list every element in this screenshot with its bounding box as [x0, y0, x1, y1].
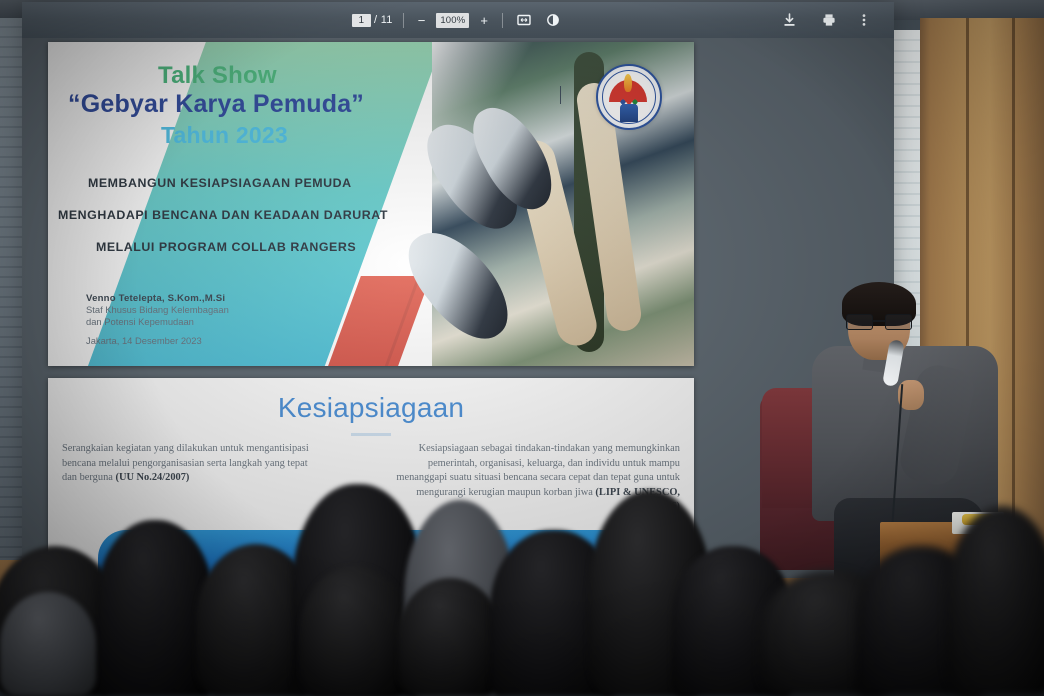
slide-title-line-3: Tahun 2023 — [161, 122, 288, 149]
glasses-icon — [846, 314, 912, 328]
print-icon[interactable] — [818, 11, 840, 29]
speaker-role-line-1: Staf Khusus Bidang Kelembagaan — [86, 304, 229, 316]
slide-speaker-name: Venno Tetelepta, S.Kom.,M.Si — [86, 293, 225, 304]
emblem-body — [620, 104, 638, 122]
audience-foreground — [0, 430, 1044, 696]
toolbar-right-controls — [779, 2, 870, 38]
slide-subtitle-line-1: MEMBANGUN KESIAPSIAGAAN PEMUDA — [88, 176, 352, 190]
pdf-viewer-toolbar[interactable]: 1 / 11 − 100% + — [22, 2, 894, 38]
slide-speaker-role: Staf Khusus Bidang Kelembagaan dan Poten… — [86, 304, 229, 327]
slide-page-1: Talk Show “Gebyar Karya Pemuda” Tahun 20… — [48, 42, 694, 366]
more-options-icon[interactable] — [858, 11, 870, 29]
screenshot-root: 1 / 11 − 100% + — [0, 0, 1044, 696]
audience-head — [946, 506, 1044, 696]
text-cursor-artifact — [560, 86, 561, 104]
toolbar-divider — [403, 13, 404, 28]
page-indicator: 1 / 11 — [352, 14, 393, 27]
slide-1-text-block: Talk Show “Gebyar Karya Pemuda” Tahun 20… — [48, 42, 448, 366]
slide-subtitle-line-2: MENGHADAPI BENCANA DAN KEADAAN DARURAT — [58, 208, 388, 222]
glasses-left-lens — [846, 314, 873, 330]
slide-2-title: Kesiapsiagaan — [48, 392, 694, 424]
zoom-level-value[interactable]: 100% — [436, 13, 469, 28]
toolbar-center-controls: 1 / 11 − 100% + — [352, 2, 564, 38]
fit-page-icon[interactable] — [513, 12, 535, 28]
zoom-in-button[interactable]: + — [476, 12, 492, 29]
rotate-icon[interactable] — [542, 11, 564, 29]
kemenpora-emblem-icon — [596, 64, 662, 130]
current-page-input[interactable]: 1 — [352, 14, 371, 27]
speaker-role-line-2: dan Potensi Kepemudaan — [86, 316, 229, 328]
toolbar-divider — [502, 13, 503, 28]
audience-head — [300, 566, 410, 696]
zoom-out-button[interactable]: − — [414, 12, 430, 29]
slide-title-line-2: “Gebyar Karya Pemuda” — [68, 90, 364, 119]
slide-place-date: Jakarta, 14 Desember 2023 — [86, 335, 202, 346]
glasses-right-lens — [885, 314, 912, 330]
download-icon[interactable] — [779, 11, 800, 29]
glasses-bridge — [872, 320, 886, 322]
slide-title-line-1: Talk Show — [158, 62, 277, 90]
audience-head — [398, 578, 502, 696]
emblem-flame — [624, 74, 632, 92]
audience-head — [0, 592, 96, 696]
page-total-label: / 11 — [374, 14, 393, 26]
slide-subtitle-line-3: MELALUI PROGRAM COLLAB RANGERS — [96, 240, 356, 254]
